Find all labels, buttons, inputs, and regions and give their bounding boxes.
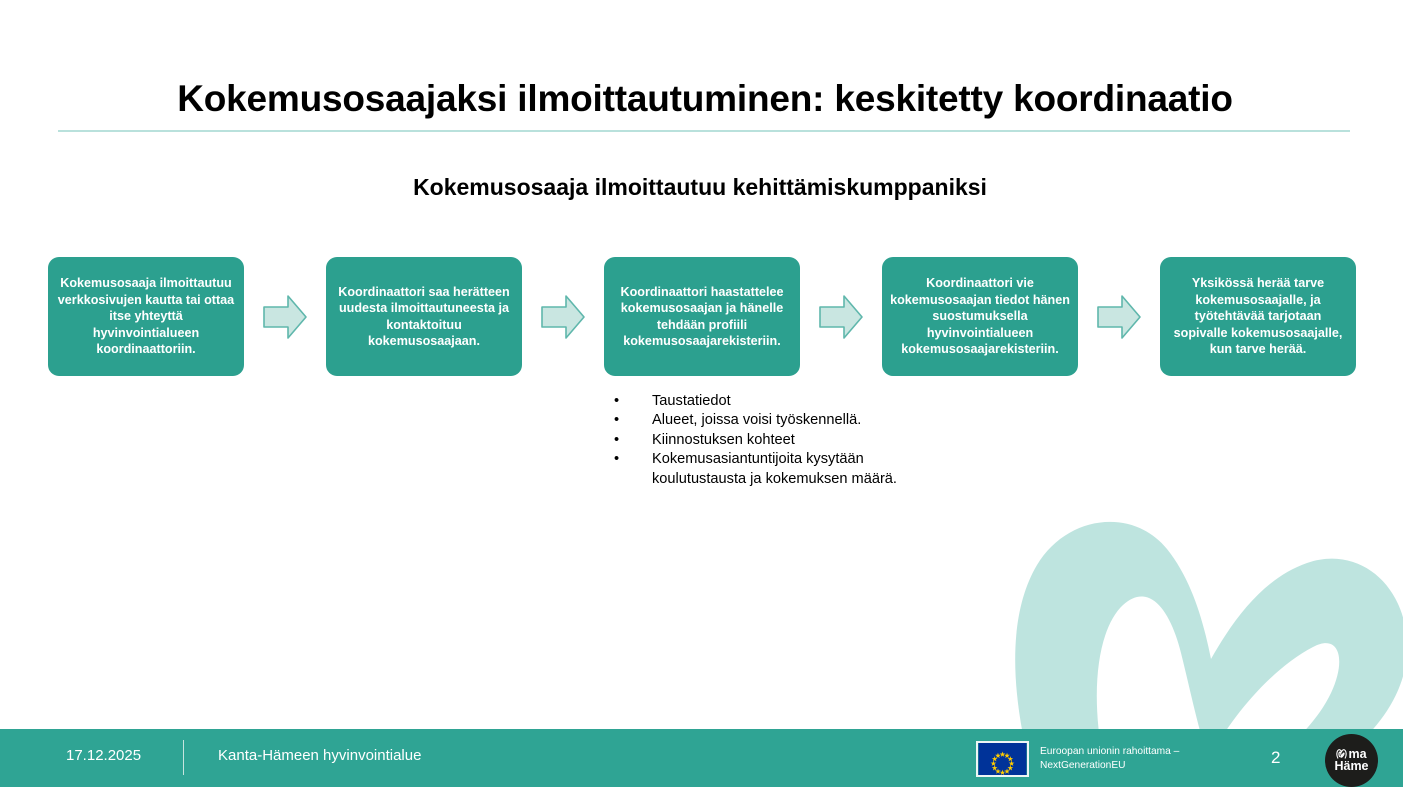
list-item: • Taustatiedot: [614, 392, 914, 411]
eu-funding-block: Euroopan unionin rahoittama – NextGenera…: [976, 741, 1179, 777]
oma-hame-logo: ma Häme: [1325, 734, 1378, 787]
footer-organization: Kanta-Hämeen hyvinvointialue: [218, 747, 421, 764]
footer-divider: [183, 740, 184, 775]
bullet-marker: •: [614, 411, 652, 430]
list-item-label: Taustatiedot: [652, 392, 914, 411]
list-item-label: Kokemusasiantuntijoita kysytään koulutus…: [652, 450, 914, 489]
list-item-label: Kiinnostuksen kohteet: [652, 431, 914, 450]
bullet-marker: •: [614, 450, 652, 489]
eu-flag-icon: [976, 741, 1029, 777]
arrow-connector-1: [244, 293, 326, 341]
process-step-1: Kokemusosaaja ilmoittautuu verkkosivujen…: [48, 257, 244, 376]
process-step-5: Yksikössä herää tarve kokemusosaajalle, …: [1160, 257, 1356, 376]
footer-date: 17.12.2025: [66, 747, 141, 764]
arrow-connector-3: [800, 293, 882, 341]
arrow-right-icon: [540, 293, 586, 341]
footer-bar: 17.12.2025 Kanta-Hämeen hyvinvointialue: [0, 729, 1403, 787]
eu-funding-line-2: NextGenerationEU: [1040, 759, 1179, 773]
arrow-right-icon: [262, 293, 308, 341]
list-item-label: Alueet, joissa voisi työskennellä.: [652, 411, 914, 430]
page-number: 2: [1271, 748, 1280, 768]
list-item: • Alueet, joissa voisi työskennellä.: [614, 411, 914, 430]
logo-text-hame: Häme: [1334, 760, 1368, 773]
arrow-connector-2: [522, 293, 604, 341]
process-flow: Kokemusosaaja ilmoittautuu verkkosivujen…: [48, 257, 1356, 376]
eu-funding-text: Euroopan unionin rahoittama – NextGenera…: [1040, 745, 1179, 774]
title-divider: [58, 130, 1350, 132]
details-bullet-list: • Taustatiedot • Alueet, joissa voisi ty…: [614, 392, 914, 489]
arrow-connector-4: [1078, 293, 1160, 341]
bullet-marker: •: [614, 392, 652, 411]
heart-icon: [1336, 748, 1347, 759]
process-step-3: Koordinaattori haastattelee kokemusosaaj…: [604, 257, 800, 376]
arrow-right-icon: [818, 293, 864, 341]
bullet-marker: •: [614, 431, 652, 450]
eu-funding-line-1: Euroopan unionin rahoittama –: [1040, 745, 1179, 759]
list-item: • Kiinnostuksen kohteet: [614, 431, 914, 450]
process-step-4: Koordinaattori vie kokemusosaajan tiedot…: [882, 257, 1078, 376]
page-title: Kokemusosaajaksi ilmoittautuminen: keski…: [60, 78, 1350, 120]
slide-canvas: Kokemusosaajaksi ilmoittautuminen: keski…: [0, 0, 1403, 787]
arrow-right-icon: [1096, 293, 1142, 341]
page-subtitle: Kokemusosaaja ilmoittautuu kehittämiskum…: [60, 174, 1340, 201]
process-step-2: Koordinaattori saa herätteen uudesta ilm…: [326, 257, 522, 376]
list-item: • Kokemusasiantuntijoita kysytään koulut…: [614, 450, 914, 489]
